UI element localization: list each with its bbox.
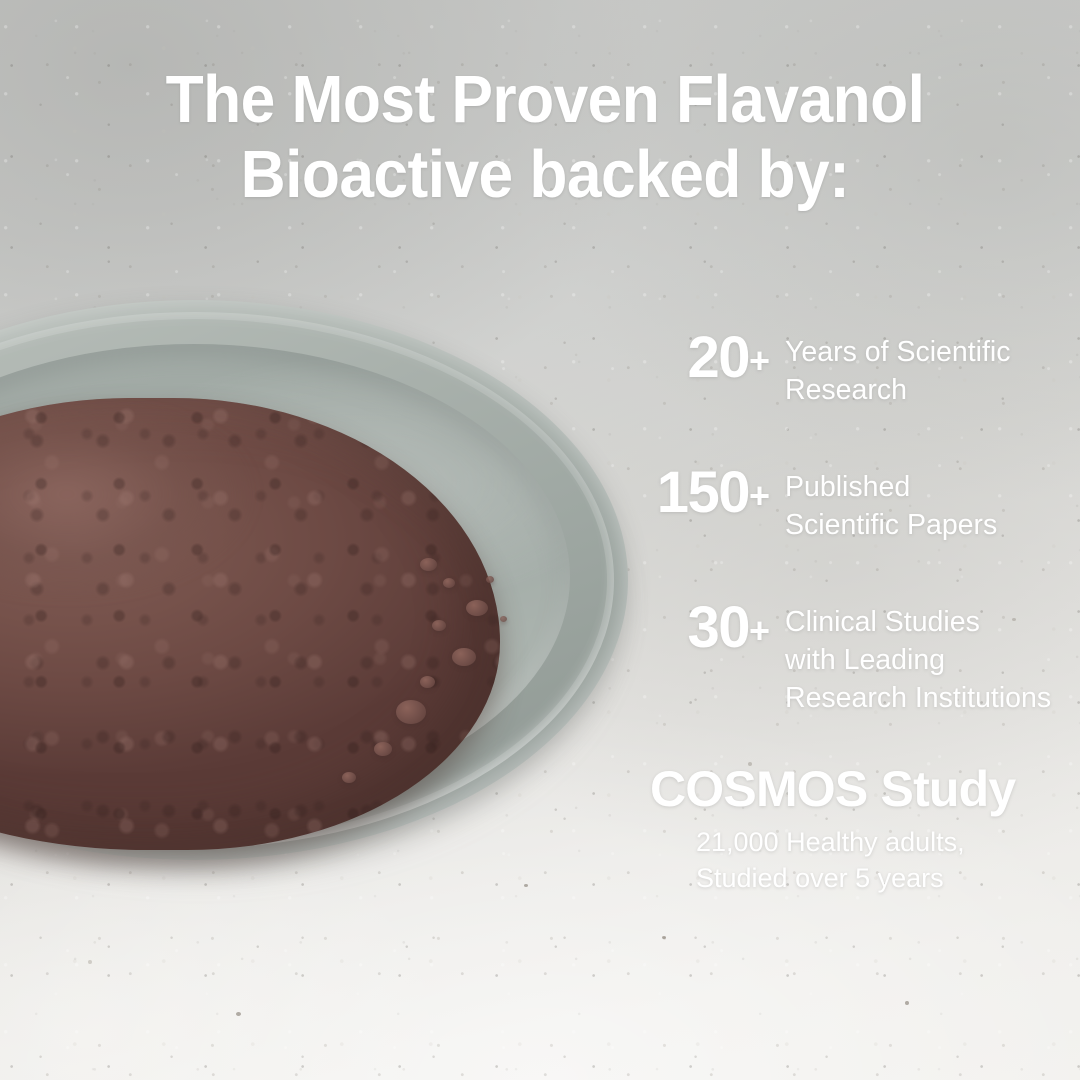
stat-item-published-papers: 150+ Published Scientific Papers — [600, 465, 1070, 544]
stat-label-line-2: Scientific Papers — [785, 506, 1070, 544]
cosmos-sub-line-2: Studied over 5 years — [696, 860, 1070, 896]
powder-crumb — [486, 576, 494, 583]
powder-crumb — [432, 620, 446, 631]
surface-fleck — [662, 936, 666, 939]
cosmos-study-block: COSMOS Study 21,000 Healthy adults, Stud… — [600, 760, 1070, 896]
stat-label: Clinical Studies with Leading Research I… — [770, 600, 1070, 717]
surface-fleck — [236, 1012, 241, 1016]
stat-label-line-1: Years of Scientific — [785, 333, 1070, 371]
cosmos-study-subtitle: 21,000 Healthy adults, Studied over 5 ye… — [600, 818, 1070, 896]
headline-line-1: The Most Proven Flavanol — [122, 62, 968, 137]
powder-crumb — [443, 578, 455, 588]
statistics-list: 20+ Years of Scientific Research 150+ Pu… — [600, 330, 1070, 773]
cosmos-study-title: COSMOS Study — [600, 760, 1070, 818]
stat-label-line-3: Research Institutions — [785, 679, 1070, 717]
surface-fleck — [905, 1001, 909, 1005]
stat-value: 20 — [687, 325, 749, 390]
stat-suffix: + — [749, 610, 770, 651]
stat-label-line-2: Research — [785, 371, 1070, 409]
stat-item-clinical-studies: 30+ Clinical Studies with Leading Resear… — [600, 600, 1070, 717]
powder-crumb — [452, 648, 476, 666]
surface-fleck — [88, 960, 92, 964]
powder-crumb — [420, 558, 437, 571]
powder-texture — [0, 398, 500, 850]
powder-crumb — [466, 600, 488, 616]
stat-label-line-2: with Leading — [785, 641, 1070, 679]
stat-number: 30+ — [600, 600, 770, 659]
powder-crumb — [342, 772, 356, 783]
stat-number: 150+ — [600, 465, 770, 524]
stat-value: 150 — [657, 460, 749, 525]
surface-fleck — [524, 884, 528, 887]
stat-label-line-1: Published — [785, 468, 1070, 506]
powder-crumb — [500, 616, 507, 622]
infographic-canvas: The Most Proven Flavanol Bioactive backe… — [0, 0, 1080, 1080]
stat-item-years-of-research: 20+ Years of Scientific Research — [600, 330, 1070, 409]
stat-label: Published Scientific Papers — [770, 465, 1070, 544]
stat-value: 30 — [687, 595, 749, 660]
stat-suffix: + — [749, 340, 770, 381]
powder-crumb — [374, 742, 392, 756]
stat-label: Years of Scientific Research — [770, 330, 1070, 409]
page-title: The Most Proven Flavanol Bioactive backe… — [122, 62, 968, 212]
cosmos-sub-line-1: 21,000 Healthy adults, — [696, 824, 1070, 860]
powder-crumb — [420, 676, 435, 688]
cocoa-powder-mound — [0, 398, 500, 850]
stat-number: 20+ — [600, 330, 770, 389]
stat-label-line-1: Clinical Studies — [785, 603, 1070, 641]
headline-line-2: Bioactive backed by: — [122, 137, 968, 212]
powder-crumb — [396, 700, 426, 724]
stat-suffix: + — [749, 475, 770, 516]
